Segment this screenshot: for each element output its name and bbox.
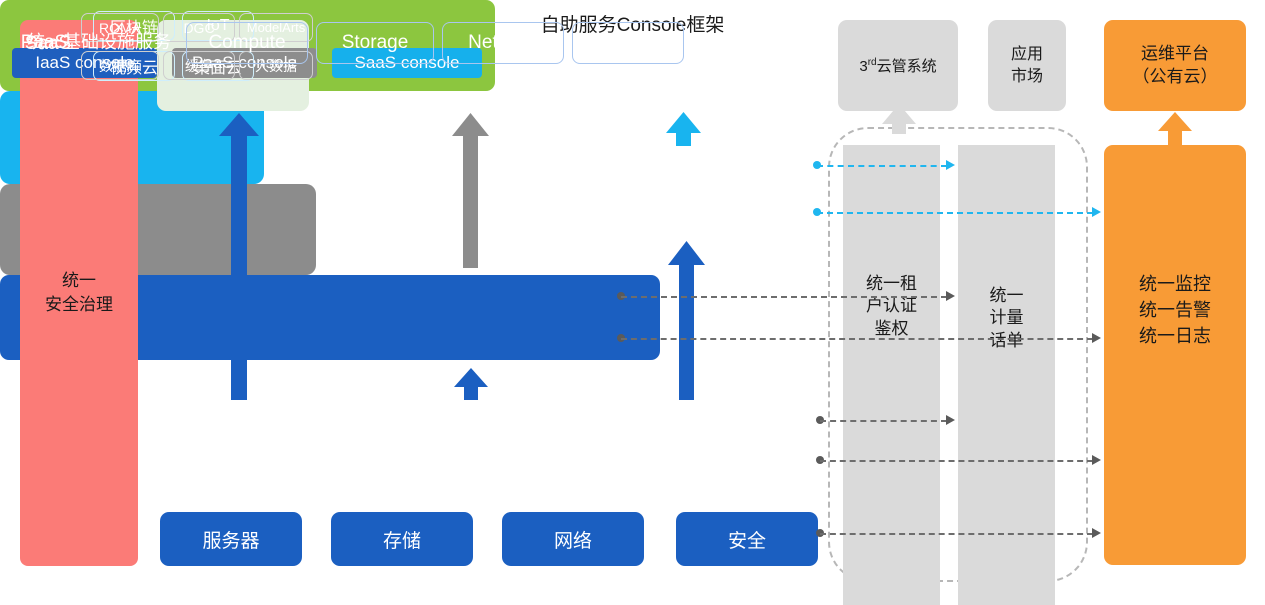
third-party-cms-label: 3rd云管系统 bbox=[859, 55, 936, 76]
connector-arrow-infra-to-ops bbox=[1092, 455, 1101, 465]
arrow-infra-to-paas bbox=[454, 368, 488, 400]
connector-hardware-to-ops bbox=[820, 533, 1093, 535]
hardware-network-label: 网络 bbox=[554, 526, 592, 553]
app-market-line2: 市场 bbox=[1011, 66, 1043, 88]
hardware-box-storage: 存储 bbox=[331, 512, 473, 566]
billing-line1: 统一 bbox=[990, 285, 1024, 307]
connector-arrow-paas-to-ops bbox=[1092, 333, 1101, 343]
third-party-cloud-management-box: 3rd云管系统 bbox=[838, 20, 958, 111]
connector-infra-to-ops bbox=[820, 460, 1093, 462]
app-market-line1: 应用 bbox=[1011, 44, 1043, 66]
auth-line2: 户认证 bbox=[866, 295, 917, 317]
security-governance-line2: 安全治理 bbox=[45, 293, 113, 317]
hardware-box-security: 安全 bbox=[676, 512, 818, 566]
connector-arrow-hardware-to-ops bbox=[1092, 528, 1101, 538]
ops-platform-line2: （公有云） bbox=[1133, 66, 1218, 89]
ops-monitor-line3: 统一日志 bbox=[1139, 323, 1211, 349]
auth-line3: 鉴权 bbox=[866, 318, 917, 340]
security-governance-line1: 统一 bbox=[45, 269, 113, 293]
arrow-paas-to-console bbox=[452, 113, 489, 268]
infra-chip-cce-label: CCE bbox=[608, 32, 648, 54]
connector-infra-to-auth bbox=[820, 420, 947, 422]
billing-line2: 计量 bbox=[990, 307, 1024, 329]
connector-arrow-saas-to-auth bbox=[946, 160, 955, 170]
connector-arrow-infra-to-auth bbox=[946, 415, 955, 425]
unified-billing-column: 统一 计量 话单 bbox=[958, 145, 1055, 605]
hardware-security-label: 安全 bbox=[728, 526, 766, 553]
auth-line1: 统一租 bbox=[866, 273, 917, 295]
connector-arrow-paas-to-auth bbox=[946, 291, 955, 301]
infra-chip-compute-label: Compute bbox=[208, 32, 285, 54]
infra-chip-compute[interactable]: Compute bbox=[186, 22, 308, 64]
ops-monitor-line2: 统一告警 bbox=[1139, 297, 1211, 323]
hardware-server-label: 服务器 bbox=[202, 526, 259, 553]
paas-chip-database-label: 数据库 bbox=[99, 56, 141, 76]
connector-arrow-saas-to-ops bbox=[1092, 207, 1101, 217]
connector-saas-to-ops bbox=[817, 212, 1093, 214]
billing-line3: 话单 bbox=[990, 330, 1024, 352]
connector-paas-to-ops bbox=[621, 338, 1093, 340]
ops-platform-box: 运维平台 （公有云） bbox=[1104, 20, 1246, 111]
architecture-diagram: 统一 安全治理 API网关 自助服务Console框架 IaaS console… bbox=[0, 0, 1265, 605]
hardware-box-server: 服务器 bbox=[160, 512, 302, 566]
security-governance-panel: 统一 安全治理 bbox=[20, 20, 138, 566]
unified-tenant-auth-column: 统一租 户认证 鉴权 bbox=[843, 145, 940, 605]
ops-platform-line1: 运维平台 bbox=[1133, 43, 1218, 66]
infra-chip-network-label: Network bbox=[468, 32, 538, 54]
connector-saas-to-auth bbox=[817, 165, 947, 167]
infra-chip-storage-label: Storage bbox=[342, 32, 409, 54]
infra-chip-network[interactable]: Network bbox=[442, 22, 564, 64]
infra-label: 统一基础设施服务 bbox=[14, 28, 184, 54]
infra-chip-cce[interactable]: CCE bbox=[572, 22, 684, 64]
paas-chip-database[interactable]: 数据库 bbox=[81, 51, 159, 80]
hardware-storage-label: 存储 bbox=[383, 526, 421, 553]
connector-paas-to-auth bbox=[621, 296, 947, 298]
arrow-ops-monitor-to-ops-platform bbox=[1158, 112, 1192, 145]
arrow-infra-to-saas bbox=[668, 241, 705, 400]
arrow-saas-to-console bbox=[666, 112, 701, 146]
ops-monitor-line1: 统一监控 bbox=[1139, 271, 1211, 297]
ops-monitoring-panel: 统一监控 统一告警 统一日志 bbox=[1104, 145, 1246, 565]
app-market-box: 应用 市场 bbox=[988, 20, 1066, 111]
hardware-box-network: 网络 bbox=[502, 512, 644, 566]
infra-chip-storage[interactable]: Storage bbox=[316, 22, 434, 64]
third-party-cms-superscript: rd bbox=[868, 57, 877, 68]
